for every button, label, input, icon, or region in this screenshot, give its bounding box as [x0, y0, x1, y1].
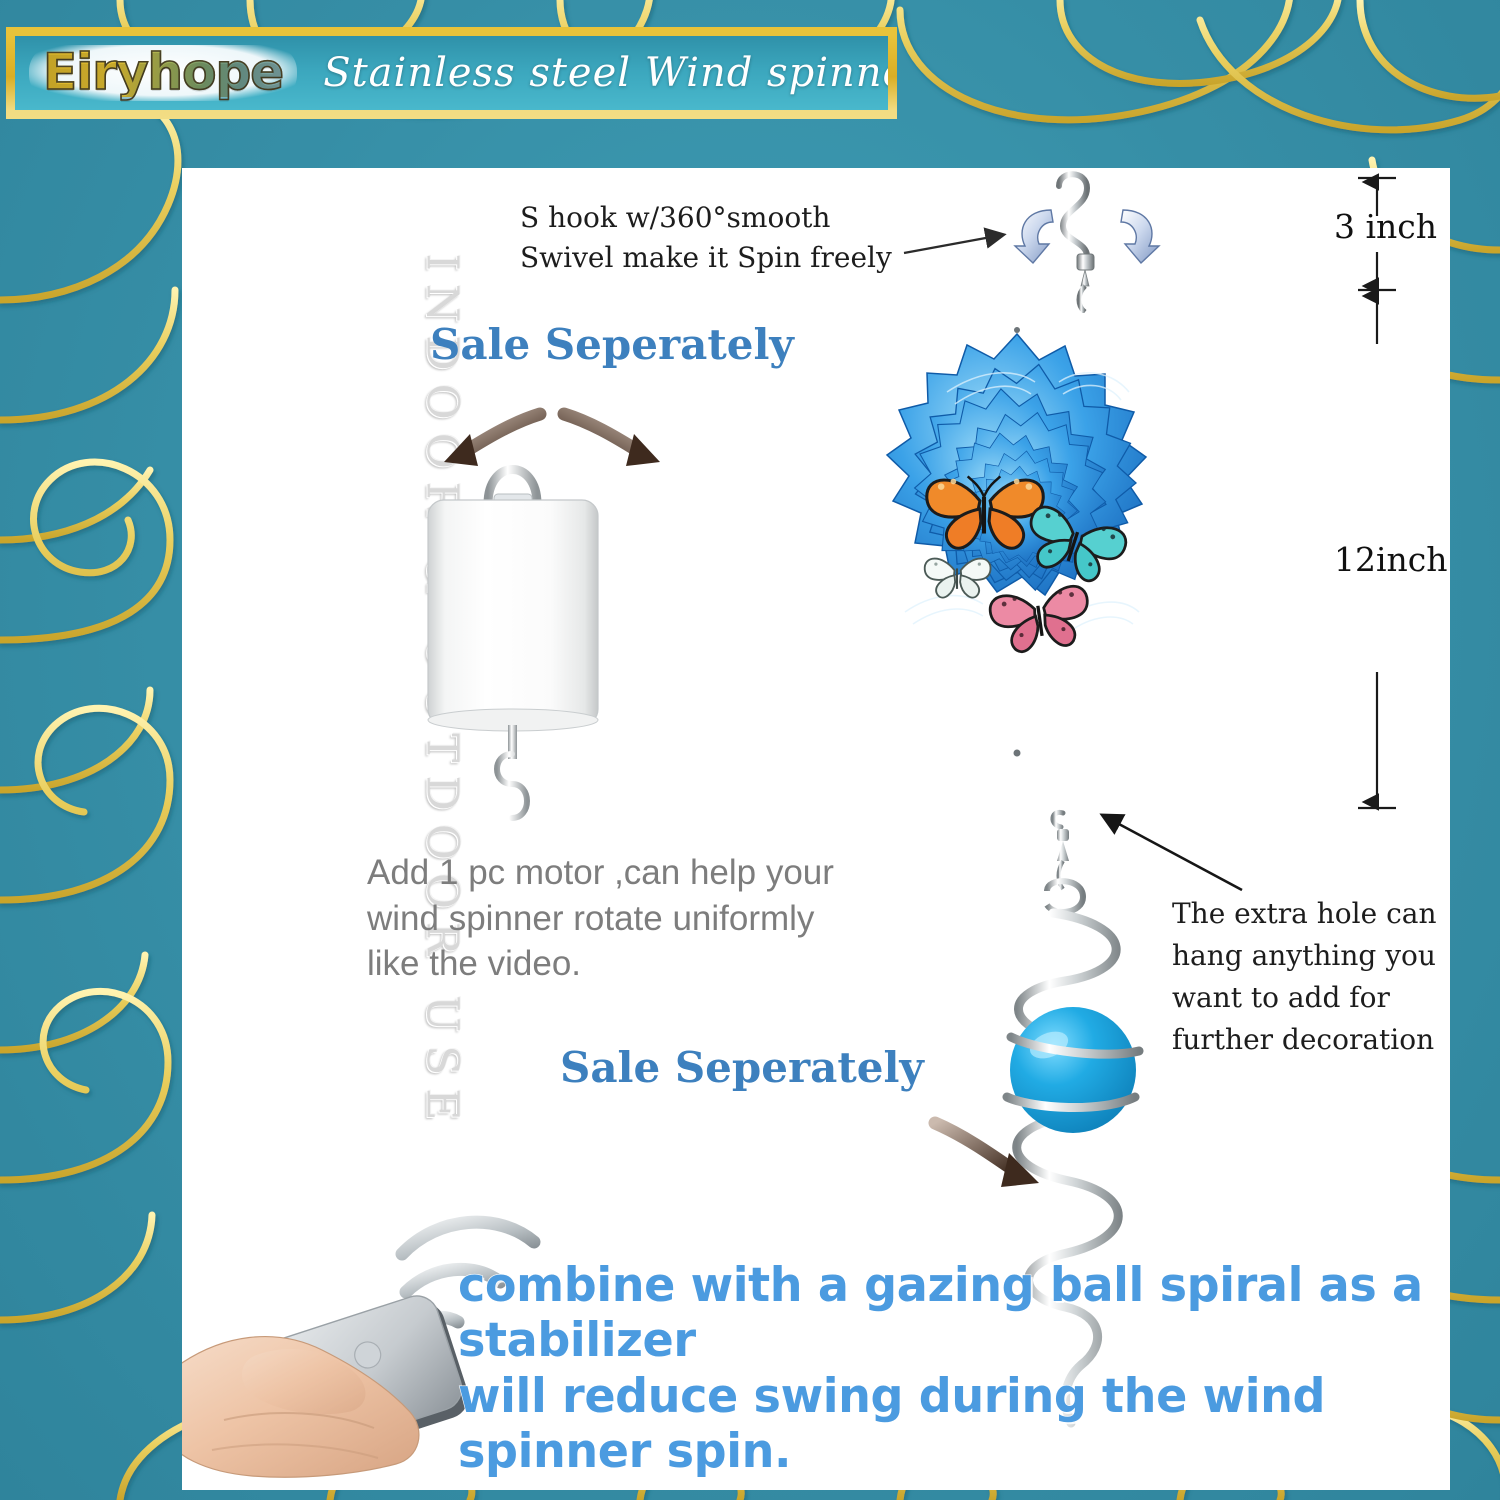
banner-title: Stainless steel Wind spinner: [323, 50, 897, 96]
header-banner: Eiryhope Stainless steel Wind spinner: [6, 27, 897, 119]
sale-separately-top: Sale Seperately: [430, 320, 794, 369]
motor-note: Add 1 pc motor ,can help your wind spinn…: [367, 850, 927, 987]
gazing-ball: [1010, 1007, 1136, 1133]
dimension-lines: [1340, 172, 1420, 812]
product-infographic: Eiryhope Stainless steel Wind spinner IN…: [0, 0, 1500, 1500]
rotate-cw-icon: [1121, 210, 1159, 263]
sale-separately-bottom: Sale Seperately: [560, 1043, 924, 1092]
brand-logo-text: Eiryhope: [43, 47, 283, 97]
pink-butterfly: [988, 584, 1093, 655]
spinner-extra-hole: [1014, 750, 1021, 757]
brand-logo: Eiryhope: [29, 45, 297, 101]
dimension-label-top: 3 inch: [1334, 207, 1437, 246]
extra-hole-note: The extra hole can hang anything you wan…: [1172, 893, 1462, 1061]
wind-spinner-product: [805, 287, 1230, 812]
hook-note: S hook w/360°smooth Swivel make it Spin …: [520, 198, 920, 278]
spinner-top-hole: [1014, 327, 1020, 333]
dimension-label-body: 12inch: [1334, 540, 1448, 579]
rotate-ccw-icon: [1015, 210, 1053, 263]
bottom-headline: combine with a gazing ball spiral as a s…: [458, 1258, 1438, 1480]
motor-cylinder-icon: [400, 432, 625, 844]
